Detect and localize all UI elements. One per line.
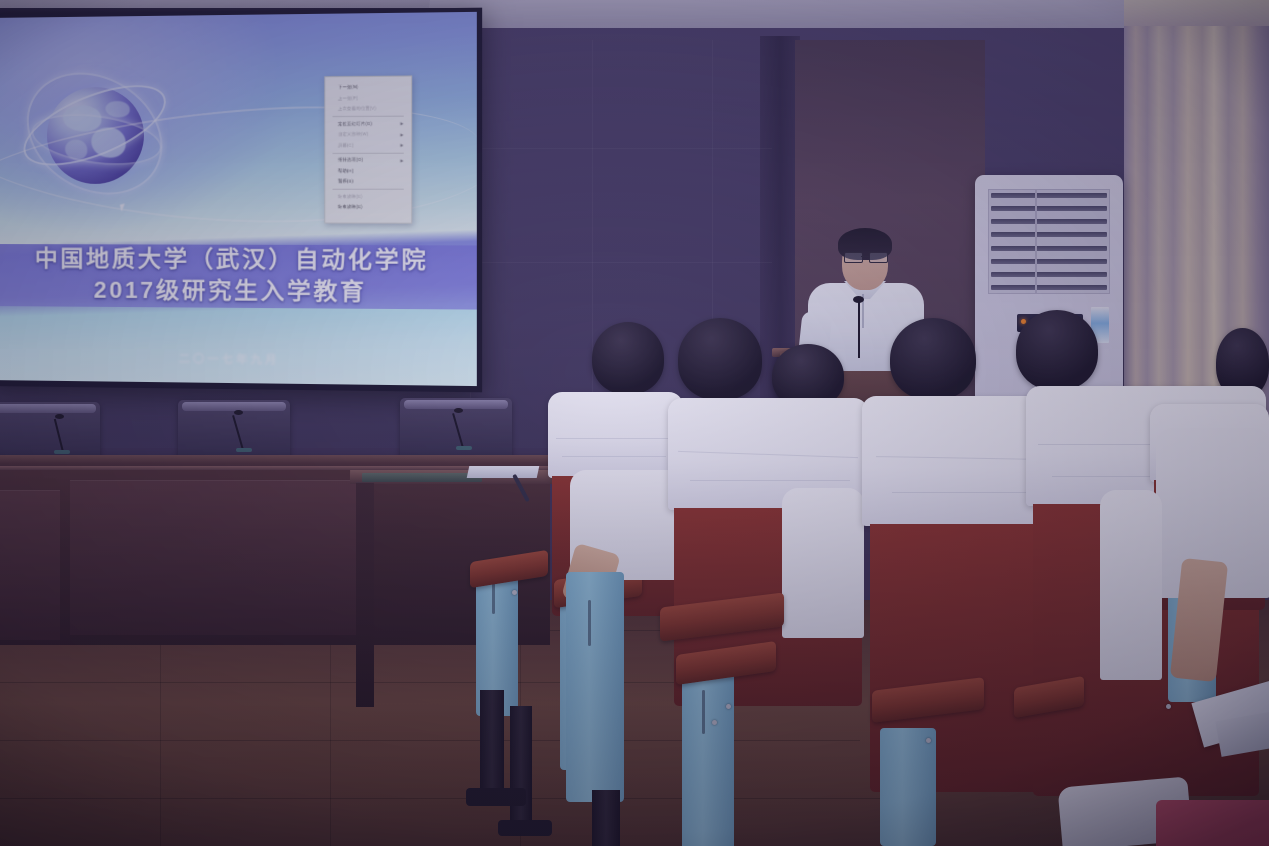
context-menu-item-label: 定位至幻灯片(G) [338,121,372,127]
podium-microphone [858,300,860,358]
lecture-hall-photo: 下一张(N)上一张(P)上次查看的位置(V)定位至幻灯片(G)▶自定义放映(W)… [0,0,1269,846]
glasses-icon [844,252,886,261]
chevron-right-icon: ▶ [400,143,403,148]
context-menu-item-label: 帮助(H) [338,168,354,174]
context-menu-item-label: 自定义放映(W) [338,131,368,137]
seat-side-panel [682,666,734,846]
microphone-base [54,450,70,454]
slide-title-line-2: 2017级研究生入学教育 [0,273,477,309]
context-menu-item[interactable]: 指针选项(O)▶ [331,155,406,166]
chevron-right-icon: ▶ [400,132,403,137]
context-menu-item[interactable]: 自定义放映(W)▶ [331,129,406,140]
seat-pedestal [592,790,620,846]
desk-papers [467,466,540,478]
head-table-panel [0,490,60,640]
context-menu-item-label: 下一张(N) [338,84,358,90]
slide-title-block: 中国地质大学（武汉）自动化学院 2017级研究生入学教育 [0,243,477,309]
context-menu-item[interactable]: 帮助(H) [331,166,406,177]
context-menu-item-label: 上次查看的位置(V) [338,106,376,113]
context-menu-item-label: 指针选项(O) [338,157,363,163]
seat-side-panel [566,572,624,802]
context-menu-separator [333,116,404,118]
microphone-head-icon [55,414,64,419]
context-menu-item[interactable]: 结束放映(E) [331,202,406,213]
slide-date-line: 二〇一七年九月 [0,348,477,370]
context-menu-item[interactable]: 暂停(S) [331,176,406,187]
ac-grille-icon [988,189,1110,294]
seat-pedestal [510,706,532,828]
head-table-panel [70,480,360,635]
context-menu-item[interactable]: 结束放映(E) [331,191,406,202]
chevron-right-icon: ▶ [400,121,403,126]
microphone-base [456,446,472,450]
attendee-head [890,318,976,400]
wall-seam [462,262,772,263]
chevron-right-icon: ▶ [400,158,403,163]
context-menu-separator [333,189,404,190]
attendee-head [678,318,762,400]
context-menu-item[interactable]: 上一张(P) [331,92,406,104]
context-menu-item-label: 结束放映(E) [338,204,363,210]
seat-headrest-cover [548,392,683,478]
seat-floor-mount [498,820,552,836]
microphone-head-icon [234,410,243,415]
desk-writing-pad [362,473,482,482]
attendee-head [592,322,664,394]
seat-side-panel [880,728,936,846]
wall-seam [462,148,772,149]
projection-screen-frame: 下一张(N)上一张(P)上次查看的位置(V)定位至幻灯片(G)▶自定义放映(W)… [0,8,482,393]
microphone-head-icon [454,408,463,413]
context-menu-item[interactable]: 上次查看的位置(V) [331,103,406,115]
slide-title-line-1: 中国地质大学（武汉）自动化学院 [0,243,477,275]
pink-folder [1156,800,1269,846]
curtain-rail [1124,0,1269,26]
microphone-head-icon [853,296,864,303]
attendee-head [1016,310,1098,390]
context-menu-item-label: 暂停(S) [338,179,354,185]
attendee-torso [782,488,864,638]
seat-pedestal [480,690,504,794]
ac-grille-divider [1035,189,1037,294]
seat-floor-mount [466,788,526,806]
desk-leg [356,482,374,707]
context-menu-item[interactable]: 屏幕(C)▶ [331,140,406,151]
context-menu-item-label: 屏幕(C) [338,142,354,148]
context-menu-item[interactable]: 定位至幻灯片(G)▶ [331,118,406,129]
projection-screen: 下一张(N)上一张(P)上次查看的位置(V)定位至幻灯片(G)▶自定义放映(W)… [0,12,477,386]
context-menu-item-label: 上一张(P) [338,95,358,101]
attendee-torso [1100,490,1162,680]
powerpoint-context-menu[interactable]: 下一张(N)上一张(P)上次查看的位置(V)定位至幻灯片(G)▶自定义放映(W)… [325,75,413,224]
context-menu-item-label: 结束放映(E) [338,193,363,199]
context-menu-separator [333,152,404,153]
microphone-base [236,448,252,452]
